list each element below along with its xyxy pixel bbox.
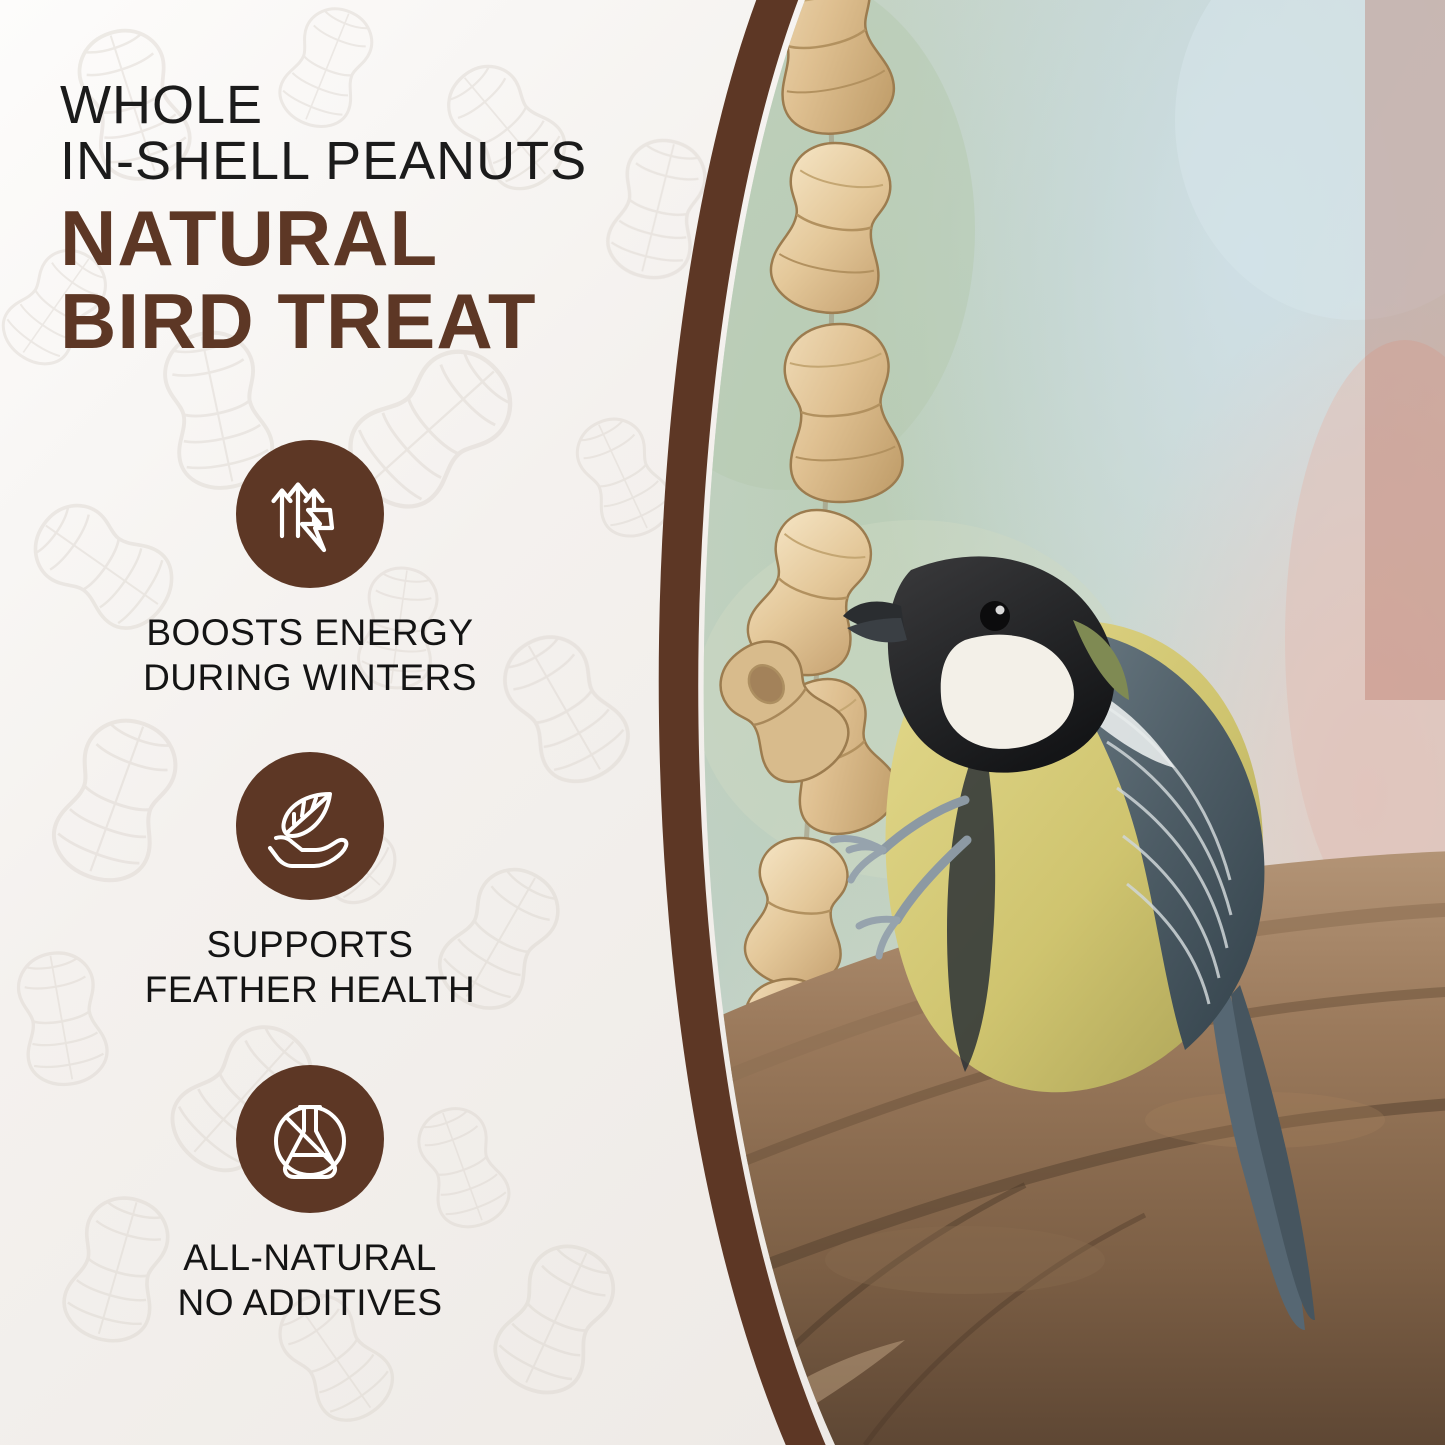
feature-label-line-1: BOOSTS ENERGY bbox=[143, 610, 477, 655]
product-photo bbox=[665, 0, 1445, 1445]
feature-label-line-2: FEATHER HEALTH bbox=[145, 967, 475, 1012]
no-chemicals-flask-icon bbox=[258, 1087, 362, 1191]
headline-line-4: BIRD TREAT bbox=[60, 280, 760, 363]
hand-holding-feather-icon bbox=[258, 774, 362, 878]
headline-block: WHOLE IN-SHELL PEANUTS NATURAL BIRD TREA… bbox=[60, 78, 760, 363]
feature-label-line-1: ALL-NATURAL bbox=[177, 1235, 442, 1280]
feature-label-line-2: DURING WINTERS bbox=[143, 655, 477, 700]
headline-line-2: IN-SHELL PEANUTS bbox=[60, 134, 760, 190]
feature-label: ALL-NATURAL NO ADDITIVES bbox=[177, 1235, 442, 1325]
feature-label: BOOSTS ENERGY DURING WINTERS bbox=[143, 610, 477, 700]
feature-list: BOOSTS ENERGY DURING WINTERS bbox=[0, 440, 620, 1377]
headline-line-3: NATURAL bbox=[60, 197, 760, 280]
feature-label-line-2: NO ADDITIVES bbox=[177, 1280, 442, 1325]
feature-item-feather-health: SUPPORTS FEATHER HEALTH bbox=[0, 752, 620, 1012]
promo-graphic: WHOLE IN-SHELL PEANUTS NATURAL BIRD TREA… bbox=[0, 0, 1445, 1445]
photo-illustration bbox=[665, 0, 1445, 1445]
feature-item-all-natural: ALL-NATURAL NO ADDITIVES bbox=[0, 1065, 620, 1325]
feature-badge bbox=[236, 440, 384, 588]
feature-label: SUPPORTS FEATHER HEALTH bbox=[145, 922, 475, 1012]
energy-bolt-arrows-icon bbox=[258, 462, 362, 566]
feature-badge bbox=[236, 752, 384, 900]
headline-line-1: WHOLE bbox=[60, 78, 760, 134]
feature-item-boosts-energy: BOOSTS ENERGY DURING WINTERS bbox=[0, 440, 620, 700]
feature-badge bbox=[236, 1065, 384, 1213]
feature-label-line-1: SUPPORTS bbox=[145, 922, 475, 967]
